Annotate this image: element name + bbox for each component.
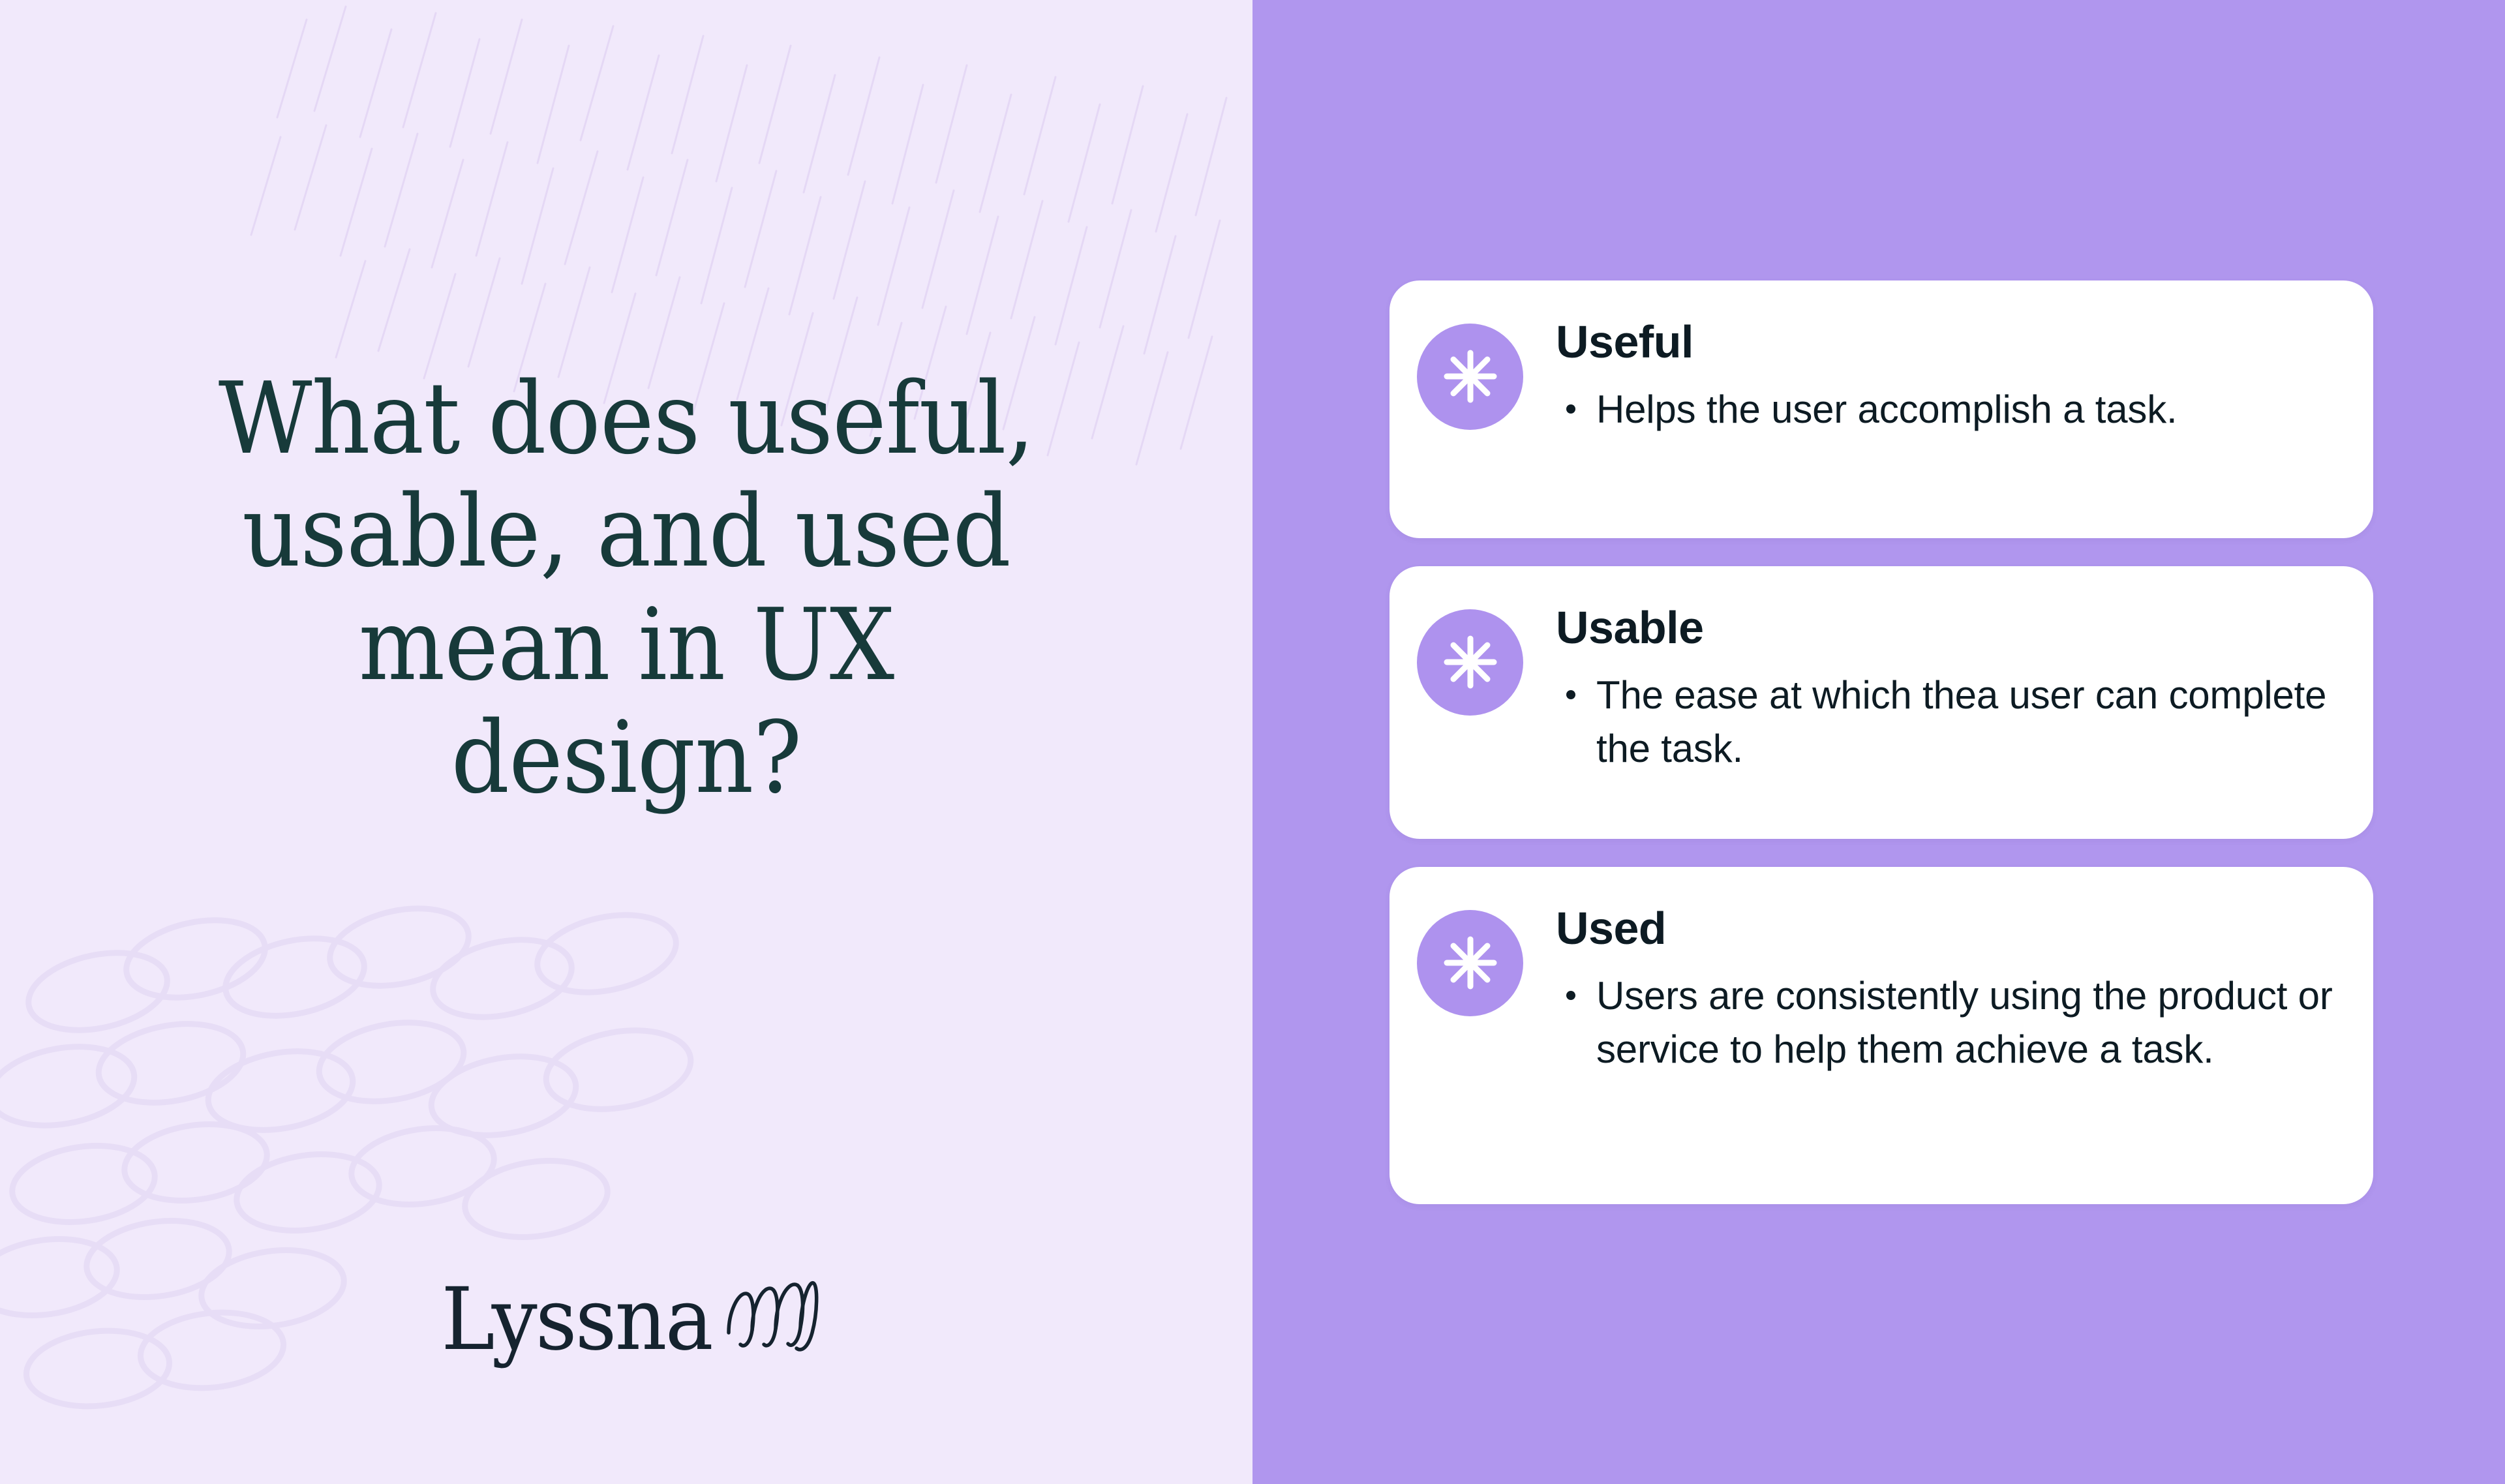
loop-squiggle-mark-icon <box>722 1275 820 1363</box>
list-item: Helps the user accomplish a task. <box>1556 383 2337 436</box>
card-body: Used Users are consistently using the pr… <box>1556 901 2337 1076</box>
card-body: Useful Helps the user accomplish a task. <box>1556 314 2337 436</box>
slide-root: What does useful, usable, and used mean … <box>0 0 2505 1484</box>
asterisk-sparkle-icon <box>1417 324 1523 430</box>
asterisk-sparkle-icon <box>1417 609 1523 716</box>
left-panel: What does useful, usable, and used mean … <box>0 0 1252 1484</box>
lyssna-logo[interactable]: Lyssna <box>0 1275 1252 1363</box>
card-title: Used <box>1556 905 2337 953</box>
card-bullet-list: Helps the user accomplish a task. <box>1556 383 2337 436</box>
asterisk-sparkle-icon <box>1417 910 1523 1016</box>
card-title: Usable <box>1556 604 2337 652</box>
logo-wordmark: Lyssna <box>442 1277 712 1363</box>
list-item: Users are consistently using the product… <box>1556 969 2337 1076</box>
card-bullet-list: The ease at which thea user can complete… <box>1556 669 2337 775</box>
card-bullet-list: Users are consistently using the product… <box>1556 969 2337 1076</box>
definition-card-used[interactable]: Used Users are consistently using the pr… <box>1389 867 2373 1204</box>
list-item: The ease at which thea user can complete… <box>1556 669 2337 775</box>
card-body: Usable The ease at which thea user can c… <box>1556 600 2337 776</box>
definition-card-usable[interactable]: Usable The ease at which thea user can c… <box>1389 566 2373 839</box>
definition-card-useful[interactable]: Useful Helps the user accomplish a task. <box>1389 280 2373 538</box>
definition-card-list: Useful Helps the user accomplish a task. <box>1389 280 2373 1204</box>
headline-container: What does useful, usable, and used mean … <box>0 362 1252 814</box>
card-title: Useful <box>1556 318 2337 367</box>
page-title: What does useful, usable, and used mean … <box>218 362 1034 814</box>
right-panel: Useful Helps the user accomplish a task. <box>1252 0 2505 1484</box>
